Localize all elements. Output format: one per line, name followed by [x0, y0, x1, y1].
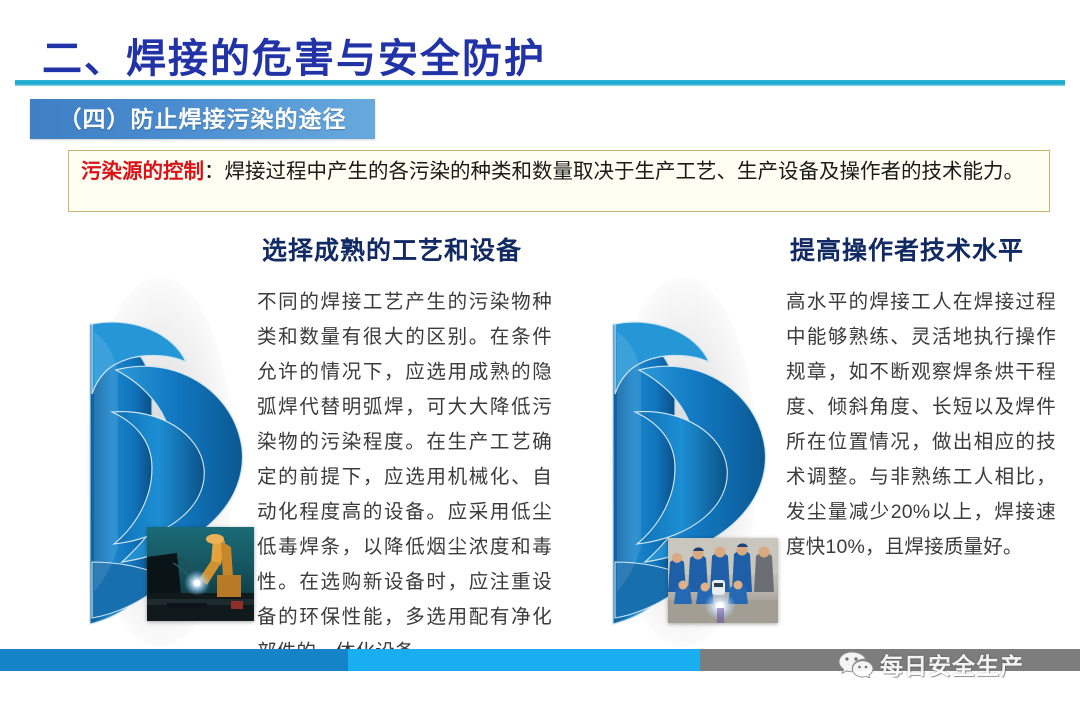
welding-training-group-photo [668, 538, 778, 623]
callout-lead-label: 污染源的控制 [81, 160, 204, 183]
callout-text: 污染源的控制：焊接过程中产生的各污染的种类和数量取决于生产工艺、生产设备及操作者… [81, 157, 1039, 186]
callout-separator: ： [204, 160, 225, 183]
left-column-heading: 选择成熟的工艺和设备 [262, 231, 522, 267]
right-column-body: 高水平的焊接工人在焊接过程中能够熟练、灵活地执行操作规章，如不断观察焊条烘干程度… [786, 285, 1056, 565]
right-column-heading: 提高操作者技术水平 [790, 231, 1024, 267]
callout-body-text: 焊接过程中产生的各污染的种类和数量取决于生产工艺、生产设备及操作者的技术能力。 [225, 160, 1025, 183]
slide-canvas: 二、焊接的危害与安全防护 （四）防止焊接污染的途径 污染源的控制：焊接过程中产生… [0, 0, 1080, 708]
watermark-label: 每日安全生产 [880, 647, 1024, 681]
footer-segment-light-blue [348, 649, 700, 671]
section-banner-label: （四）防止焊接污染的途径 [30, 99, 375, 139]
page-title: 二、焊接的危害与安全防护 [42, 26, 546, 84]
left-column-body: 不同的焊接工艺产生的污染物种类和数量有很大的区别。在条件允许的情况下，应选用成熟… [257, 285, 552, 670]
footer-segment-dark-blue [0, 649, 348, 671]
title-underline-rule [15, 80, 1065, 86]
callout-box: 污染源的控制：焊接过程中产生的各污染的种类和数量取决于生产工艺、生产设备及操作者… [68, 150, 1050, 212]
section-banner: （四）防止焊接污染的途径 [30, 99, 375, 139]
wechat-icon [838, 650, 874, 678]
welding-robot-photo [147, 527, 254, 621]
watermark: 每日安全生产 [838, 648, 1024, 680]
slide-header: 二、焊接的危害与安全防护 [0, 0, 1080, 92]
